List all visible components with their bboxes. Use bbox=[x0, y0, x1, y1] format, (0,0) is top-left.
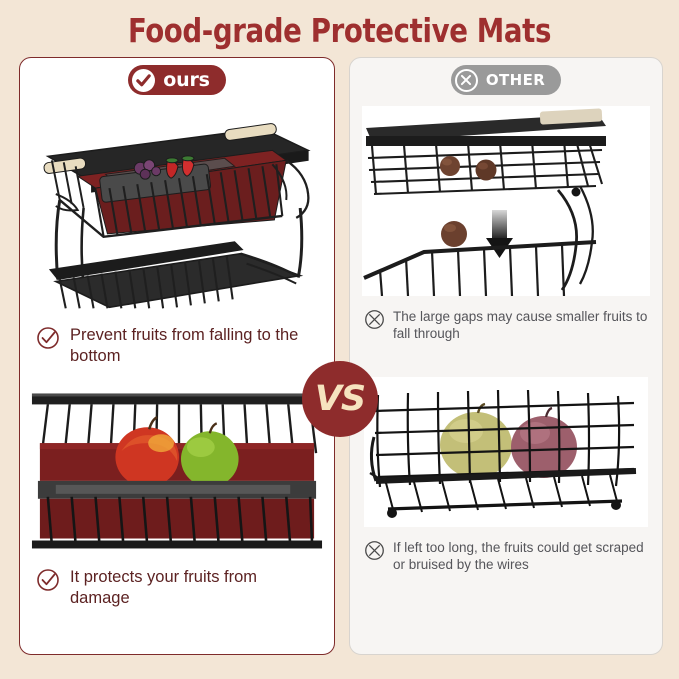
page-title: Food-grade Protective Mats bbox=[24, 0, 655, 47]
badge-other: OTHER bbox=[451, 65, 561, 95]
photo-apples-resting-on-protective-mat bbox=[26, 381, 328, 551]
check-circle-icon bbox=[36, 568, 60, 592]
feature-ours-2-text: It protects your fruits from damage bbox=[70, 567, 320, 609]
feature-ours-1: Prevent fruits from falling to the botto… bbox=[20, 309, 334, 367]
badge-ours-label: ours bbox=[163, 71, 209, 90]
x-circle-icon bbox=[364, 309, 385, 330]
x-circle-icon bbox=[364, 540, 385, 561]
feature-other-1-text: The large gaps may cause smaller fruits … bbox=[393, 308, 650, 343]
feature-other-2: If left too long, the fruits could get s… bbox=[350, 527, 662, 574]
check-circle-icon bbox=[132, 69, 155, 92]
photo-bare-wire-basket-fruit-falling-through bbox=[362, 106, 650, 296]
check-circle-icon bbox=[36, 326, 60, 350]
feature-ours-1-text: Prevent fruits from falling to the botto… bbox=[70, 325, 320, 367]
panel-other: OTHER bbox=[349, 57, 663, 655]
feature-other-2-text: If left too long, the fruits could get s… bbox=[393, 539, 650, 574]
x-circle-icon bbox=[455, 69, 478, 92]
comparison-area: ours bbox=[0, 57, 679, 657]
badge-row-other: OTHER bbox=[350, 58, 662, 102]
vs-label: VS bbox=[315, 379, 365, 419]
vs-badge: VS bbox=[302, 361, 378, 437]
badge-other-label: OTHER bbox=[486, 73, 545, 88]
feature-ours-2: It protects your fruits from damage bbox=[20, 551, 334, 609]
feature-other-1: The large gaps may cause smaller fruits … bbox=[350, 296, 662, 343]
badge-row-ours: ours bbox=[20, 58, 334, 102]
panel-ours: ours bbox=[19, 57, 335, 655]
photo-bruised-fruit-pressed-against-wires bbox=[364, 377, 648, 527]
photo-two-tier-wire-basket-with-red-mat bbox=[26, 104, 328, 309]
badge-ours: ours bbox=[128, 65, 225, 95]
